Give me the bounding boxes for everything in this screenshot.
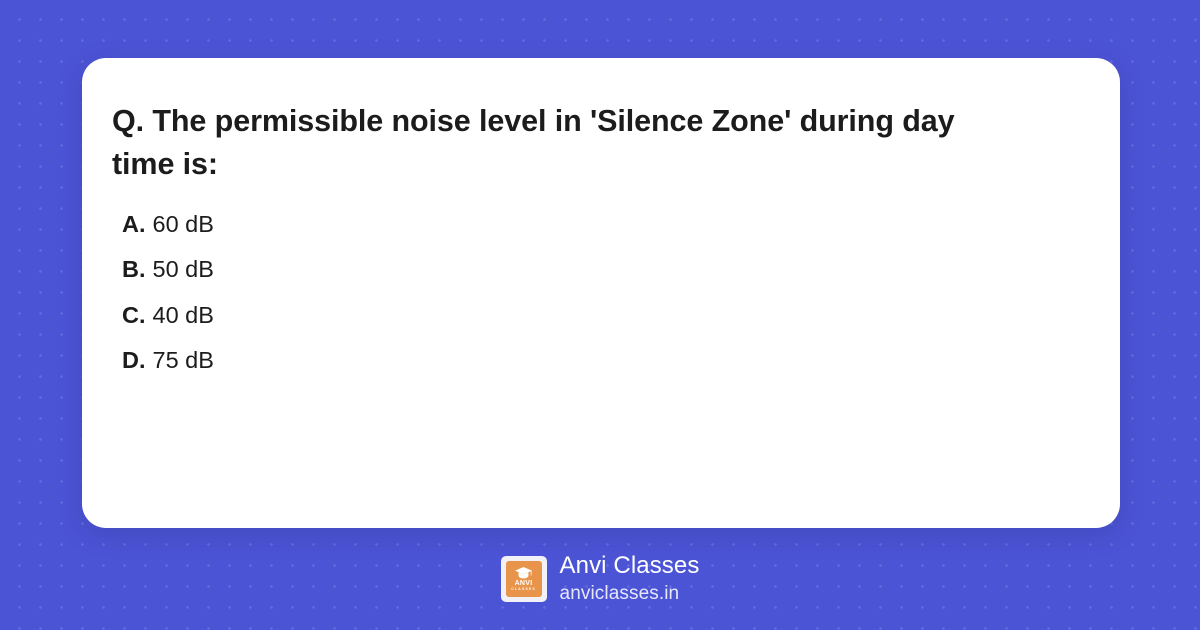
question-text: Q. The permissible noise level in 'Silen… xyxy=(112,100,1012,187)
option-d-text: 75 dB xyxy=(153,349,214,373)
graduation-cap-icon xyxy=(515,567,532,579)
brand-footer: ANVI CLASSES Anvi Classes anviclasses.in xyxy=(0,548,1200,610)
option-b-label: B. xyxy=(122,258,146,282)
option-c[interactable]: C. 40 dB xyxy=(122,304,1090,328)
option-d[interactable]: D. 75 dB xyxy=(122,349,1090,373)
brand-logo-sub: CLASSES xyxy=(511,588,536,592)
brand-name: Anvi Classes xyxy=(560,553,700,580)
question-card: Q. The permissible noise level in 'Silen… xyxy=(82,58,1120,528)
option-a-label: A. xyxy=(122,213,146,237)
option-c-text: 40 dB xyxy=(153,304,214,328)
option-b-text: 50 dB xyxy=(153,258,214,282)
option-d-label: D. xyxy=(122,349,146,373)
brand-logo-tile: ANVI CLASSES xyxy=(506,561,542,597)
brand-logo: ANVI CLASSES xyxy=(501,556,547,602)
brand-url[interactable]: anviclasses.in xyxy=(560,583,700,606)
option-a[interactable]: A. 60 dB xyxy=(122,213,1090,237)
options-list: A. 60 dB B. 50 dB C. 40 dB D. 75 dB xyxy=(112,213,1090,373)
brand-logo-word: ANVI xyxy=(515,580,533,587)
brand-text-block: Anvi Classes anviclasses.in xyxy=(560,553,700,606)
option-a-text: 60 dB xyxy=(153,213,214,237)
option-c-label: C. xyxy=(122,304,146,328)
question-poster: Q. The permissible noise level in 'Silen… xyxy=(0,0,1200,630)
option-b[interactable]: B. 50 dB xyxy=(122,258,1090,282)
